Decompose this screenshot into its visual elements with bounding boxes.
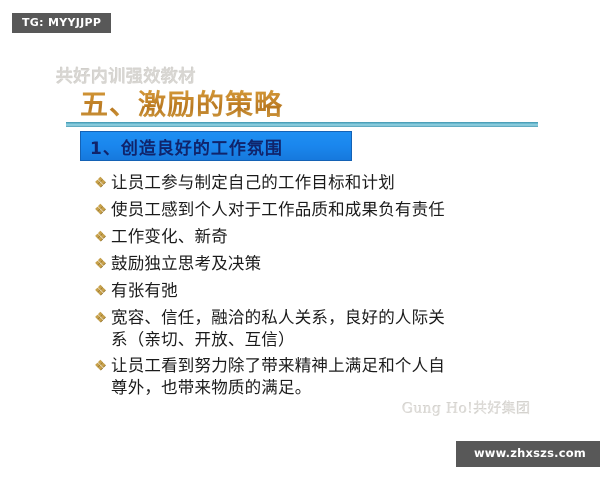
list-item-line: 让员工看到努力除了带来精神上满足和个人自 <box>111 356 445 375</box>
website-badge: www.zhxszs.com <box>456 441 600 468</box>
list-item: ❖ 鼓励独立思考及决策 <box>94 251 544 277</box>
diamond-bullet-icon: ❖ <box>94 278 111 304</box>
list-item: ❖ 使员工感到个人对于工作品质和成果负有责任 <box>94 197 544 223</box>
list-item-text: 宽容、信任，融洽的私人关系，良好的人际关 系（亲切、开放、互信） <box>111 305 544 352</box>
list-item-text: 工作变化、新奇 <box>111 224 544 249</box>
list-item: ❖ 宽容、信任，融洽的私人关系，良好的人际关 系（亲切、开放、互信） <box>94 305 544 352</box>
bottom-watermark: Gung Ho!共好集团 <box>402 398 531 418</box>
list-item-text: 让员工看到努力除了带来精神上满足和个人自 尊外，也带来物质的满足。 <box>111 353 544 400</box>
list-item: ❖ 有张有弛 <box>94 278 544 304</box>
telegram-handle-badge: TG: MYYJJPP <box>12 13 111 33</box>
list-item-text: 有张有弛 <box>111 278 544 303</box>
subheading-banner: 1、创造良好的工作氛围 <box>80 131 352 161</box>
list-item-line: 有张有弛 <box>111 281 178 300</box>
list-item-line: 工作变化、新奇 <box>111 227 228 246</box>
diamond-bullet-icon: ❖ <box>94 170 111 196</box>
diamond-bullet-icon: ❖ <box>94 224 111 250</box>
bullet-list: ❖ 让员工参与制定自己的工作目标和计划 ❖ 使员工感到个人对于工作品质和成果负有… <box>94 170 544 401</box>
title-divider <box>66 122 538 127</box>
list-item: ❖ 让员工看到努力除了带来精神上满足和个人自 尊外，也带来物质的满足。 <box>94 353 544 400</box>
page-title: 五、激励的策略 <box>80 83 283 123</box>
subheading-label: 1、创造良好的工作氛围 <box>90 134 283 159</box>
list-item-text: 鼓励独立思考及决策 <box>111 251 544 276</box>
diamond-bullet-icon: ❖ <box>94 305 111 331</box>
list-item: ❖ 让员工参与制定自己的工作目标和计划 <box>94 170 544 196</box>
list-item: ❖ 工作变化、新奇 <box>94 224 544 250</box>
list-item-line-wrap: 尊外，也带来物质的满足。 <box>111 375 544 400</box>
list-item-line: 让员工参与制定自己的工作目标和计划 <box>111 173 395 192</box>
list-item-line: 宽容、信任，融洽的私人关系，良好的人际关 <box>111 308 445 327</box>
diamond-bullet-icon: ❖ <box>94 251 111 277</box>
list-item-line-wrap: 系（亲切、开放、互信） <box>111 327 544 352</box>
list-item-text: 让员工参与制定自己的工作目标和计划 <box>111 170 544 195</box>
list-item-text: 使员工感到个人对于工作品质和成果负有责任 <box>111 197 544 222</box>
list-item-line: 鼓励独立思考及决策 <box>111 254 261 273</box>
diamond-bullet-icon: ❖ <box>94 353 111 379</box>
diamond-bullet-icon: ❖ <box>94 197 111 223</box>
list-item-line: 使员工感到个人对于工作品质和成果负有责任 <box>111 200 445 219</box>
slide-canvas: TG: MYYJJPP 共好内训强效教材 五、激励的策略 1、创造良好的工作氛围… <box>0 0 600 480</box>
